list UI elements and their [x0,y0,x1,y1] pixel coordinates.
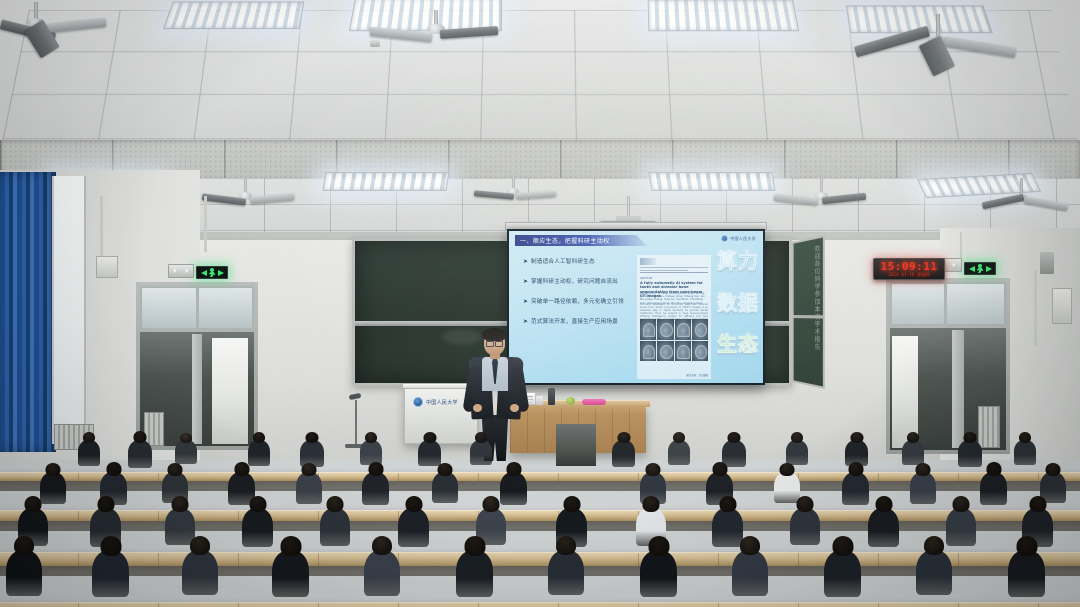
audience-person-head [506,462,521,476]
audience-person [790,508,820,545]
lecture-desk-row [0,602,1080,607]
audience-person-head [168,463,183,476]
slide-bullet-list: ➤ 制造适合人工智科研生态 ➤ 掌握科研主动权，研究问题自流出 ➤ 突破单一路径… [523,259,635,326]
exit-sign-right [964,262,996,275]
emergency-lamp-icon [185,269,190,274]
university-emblem-icon [413,397,423,407]
slide-bullet-item: ➤ 掌握科研主动权，研究问题自流出 [523,279,635,286]
audience-person-head [648,536,669,556]
desk-segment-divider [958,553,959,566]
desk-segment-divider [478,473,479,481]
audience-person-head [924,536,944,555]
audience-person-head [850,432,863,443]
audience-person-head [302,463,317,476]
led-wall-clock: 15:09:11 2024-01-18 星期四 [873,258,945,280]
audience-person [6,550,42,596]
slide-logo-text: 中国人民大学 [730,236,756,242]
audience-person-head [986,462,1001,476]
desk-segment-divider [158,511,159,521]
paper-cup [536,396,543,405]
paper-article-tag: ARTICLE [640,276,652,280]
audience-person [320,508,350,546]
exit-arrow-left-icon [201,270,207,276]
audience-person-head [791,432,803,443]
audience-person-head [327,496,344,512]
audience-person-head [253,432,265,443]
audience-person-head [475,432,487,443]
desk-segment-divider [158,473,159,481]
desk-segment-divider [158,553,159,566]
desk-segment-divider [398,473,399,481]
desk-segment-divider [798,553,799,566]
paper-masthead [640,258,708,270]
pink-case [582,399,606,405]
audience-person-head [1029,496,1046,512]
audience-person-head [646,463,661,476]
water-bottle [548,388,555,405]
audience-person-head [372,536,392,555]
slide-keyword-data: 数据 [717,293,759,313]
audience-person-head [643,496,660,512]
slide-bullet-item: ➤ 制造适合人工智科研生态 [523,259,635,266]
audience-person [786,440,808,465]
audience-person-head [280,536,301,556]
audience-person [500,472,527,505]
running-man-icon [209,268,216,277]
bullet-arrow-icon: ➤ [523,259,528,266]
window-curtain [0,172,56,452]
audience-person [1008,550,1045,597]
exit-sign-left [196,266,228,279]
audience-person [732,550,768,596]
smoke-detector-icon [370,40,380,47]
audience-person-head [1016,536,1037,556]
audience-person-head [780,463,795,476]
audience-person-head [97,496,114,512]
audience-person [432,472,458,503]
audience-person [40,472,66,504]
audience-person [360,440,382,465]
desk-segment-divider [78,473,79,481]
audience-person-head [916,463,931,476]
audience-person-head [964,432,977,443]
ct-scan-thumb [675,341,691,362]
desk-segment-divider [158,603,159,607]
audience-area [0,438,1080,607]
audience-person [128,440,152,468]
wall-conduit-farright [1034,270,1037,346]
desk-segment-divider [318,511,319,521]
emergency-light-left [168,264,194,278]
bullet-arrow-icon: ➤ [523,319,528,326]
slide-title-banner: 一、顺应生态，把握科研主动权 [515,235,647,246]
audience-person-head [100,536,121,556]
audience-person [548,550,584,595]
side-chalkboard-text: 欢迎各位同学参加本次学术报告 [807,245,820,351]
projector-mount-rod [627,196,630,218]
desk-segment-divider [318,553,319,566]
lectern-logo-text: 中国人民大学 [426,399,458,406]
audience-person-head [25,496,42,512]
audience-person-head [14,536,34,555]
exit-arrow-right-icon [218,270,224,276]
desk-segment-divider [878,473,879,481]
running-man-icon [977,264,984,273]
door-transom-right [890,282,1006,326]
audience-person [296,472,322,504]
ct-scan-thumb [675,319,691,340]
audience-person-head [1019,432,1031,443]
audience-person-head [483,496,500,512]
bullet-arrow-icon: ➤ [523,299,528,306]
audience-person [612,440,635,467]
emergency-lamp-icon [952,263,957,268]
desk-segment-divider [638,473,639,481]
audience-person-head [953,496,970,512]
audience-person [364,550,400,596]
wall-panel-right [1052,288,1072,324]
paper-divider [640,272,708,273]
desk-segment-divider [558,473,559,481]
door-leaf-right[interactable] [952,330,964,448]
lecture-desk-row [0,510,1080,521]
audience-person-head [728,432,741,443]
ceiling-fan-3 [860,14,1040,80]
audience-person [242,508,273,547]
audience-person [868,508,899,547]
transom-mullion-left [196,286,199,330]
desk-segment-divider [638,553,639,566]
slide-university-logo: 中国人民大学 [721,235,756,242]
side-chalkboard-surface: 欢迎各位同学参加本次学术报告 [794,238,823,387]
audience-person-head [180,433,192,443]
audience-person [712,508,743,547]
bullet-text: 掌握科研主动权，研究问题自流出 [531,279,618,286]
audience-person-head [106,462,121,476]
audience-person-head [423,432,436,443]
lectern-logo: 中国人民大学 [413,397,458,407]
ceiling-drop-wire [960,232,962,260]
desk-segment-divider [238,553,239,566]
side-chalk-rail [794,315,823,319]
ceiling-fan-6 [760,178,880,220]
audience-person-head [438,463,453,476]
audience-person [418,440,441,466]
audience-person-head [797,496,814,512]
light-panel-7 [648,172,775,191]
audience-person-head [740,536,760,555]
audience-person-head [46,463,61,476]
audience-person [1014,440,1036,465]
desk-segment-divider [718,603,719,607]
audience-person [248,440,270,466]
clock-date-display: 2024-01-18 星期四 [888,272,929,277]
journal-logo-icon [640,258,656,265]
audience-person [182,550,218,595]
ct-scan-thumb [657,319,673,340]
audience-person-head [172,496,189,512]
paper-screenshot: ARTICLE A fully automatic AI system for … [637,255,711,379]
paper-source-note: 图片来源：论文截图 [686,373,708,377]
desk-segment-divider [238,511,239,521]
presenter-hand-left [473,404,482,412]
slide-keyword-ecosystem: 生态 [717,334,759,354]
exit-arrow-right-icon [986,266,992,272]
projection-screen: 一、顺应生态，把握科研主动权 中国人民大学 ➤ 制造适合人工智科研生态 ➤ 掌握… [507,229,765,385]
ceiling-fan-5 [470,176,580,216]
audience-person-head [907,432,919,443]
emergency-lamp-icon [173,269,178,274]
audience-person-head [83,432,95,443]
audience-person-head [405,496,422,512]
ct-scan-thumb [657,341,673,362]
audience-person [916,550,952,595]
audience-person [946,508,976,546]
audience-person-head [134,431,147,443]
desk-segment-divider [558,603,559,607]
bullet-text: 突破单一路径依赖，多元化确立引领 [531,299,624,306]
audience-person [980,472,1007,505]
desk-segment-divider [238,603,239,607]
audience-person [824,550,861,597]
audience-person [640,550,677,597]
ceiling-fan-7 [990,178,1080,224]
ct-scan-thumb [692,341,708,362]
audience-person [92,550,129,597]
wall-conduit-right [204,196,207,252]
desk-segment-divider [878,553,879,566]
desk-segment-divider [958,603,959,607]
desk-segment-divider [478,603,479,607]
ceiling-fan-4 [200,178,320,220]
audience-person-head [1046,463,1061,476]
clock-time-display: 15:09:11 [881,261,938,272]
bullet-text: 制造适合人工智科研生态 [531,259,595,266]
university-emblem-icon [721,235,728,242]
bullet-arrow-icon: ➤ [523,279,528,286]
left-window [52,176,86,444]
audience-person-head [848,462,863,476]
desk-segment-divider [878,603,879,607]
audience-person [668,440,690,465]
audience-person-head [712,462,727,476]
desk-segment-divider [78,553,79,566]
transom-mullion-right [944,282,947,326]
slide-bullet-item: ➤ 突破单一路径依赖，多元化确立引领 [523,299,635,306]
presentation-slide: 一、顺应生态，把握科研主动权 中国人民大学 ➤ 制造适合人工智科研生态 ➤ 掌握… [509,231,763,383]
audience-person [272,550,309,597]
light-panel-3 [648,0,800,31]
ct-scan-thumb [640,319,656,340]
audience-person [722,440,746,467]
desk-segment-divider [78,511,79,521]
audience-person-head [563,496,580,512]
desk-segment-divider [958,473,959,481]
desk-segment-divider [798,603,799,607]
audience-person [165,508,195,545]
audience-person-head [617,432,630,443]
audience-person [470,440,492,465]
audience-person-head [368,462,383,476]
bullet-text: 范式算法开发，直接生产应用场景 [531,319,618,326]
side-chalkboard: 欢迎各位同学参加本次学术报告 [792,235,825,389]
presenter-hand-right [510,404,519,412]
audience-person-head [464,536,485,556]
slide-title-text: 一、顺应生态，把握科研主动权 [520,236,610,245]
audience-person [774,472,800,503]
ct-scan-thumb [692,319,708,340]
audience-person [175,440,197,464]
ceiling-fan-2 [356,10,506,66]
ct-scan-thumb [640,341,656,362]
desk-segment-divider [318,603,319,607]
audience-person [78,440,100,466]
audience-person [398,508,429,547]
light-panel-1 [163,1,305,29]
electrical-box-left [96,256,118,278]
audience-person-head [249,496,266,512]
ct-scan-thumbnail-grid [640,319,708,361]
audience-person-head [365,432,377,443]
slide-bullet-item: ➤ 范式算法开发，直接生产应用场景 [523,319,635,326]
door-leaf-left[interactable] [192,334,202,444]
audience-person-head [673,432,685,443]
ceiling-fan-1 [10,2,170,62]
audience-person-head [875,496,892,512]
audience-person-head [306,432,319,443]
audience-person-head [832,536,853,556]
lecture-hall-photo: 15:09:11 2024-01-18 星期四 欢迎各位同学参加本次学术报告 一… [0,0,1080,607]
exit-arrow-left-icon [969,266,975,272]
audience-person [842,472,869,505]
wall-speaker-right [1040,252,1054,274]
desk-segment-divider [638,603,639,607]
audience-person [910,472,936,504]
desk-segment-divider [398,603,399,607]
audience-person-head [190,536,210,555]
slide-keyword-compute: 算力 [717,251,759,271]
desk-segment-divider [718,553,719,566]
green-apple [566,397,575,405]
corridor-view-left [212,338,248,444]
audience-person-head [234,462,249,476]
desk-segment-divider [78,603,79,607]
desk-segment-divider [1038,603,1039,607]
audience-person [958,440,982,467]
audience-person-head [719,496,736,512]
audience-person [362,472,389,505]
light-panel-6 [322,172,449,191]
audience-person [902,440,924,465]
audience-person [456,550,493,597]
desk-segment-divider [1038,473,1039,481]
audience-person-head [556,536,576,555]
glasses-icon [486,340,503,344]
